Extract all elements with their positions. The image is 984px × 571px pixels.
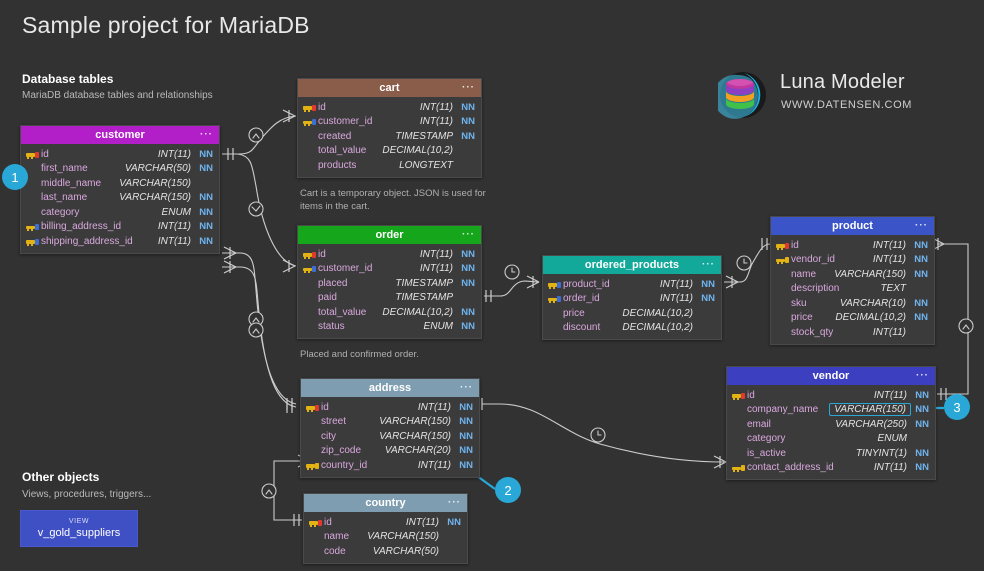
column-type: VARCHAR(150) [379,416,456,427]
column-list: idINT(11)NNnameVARCHAR(150)codeVARCHAR(5… [304,512,467,563]
column-row[interactable]: company_nameVARCHAR(150)NN [727,403,935,418]
column-name: zip_code [320,445,385,456]
table-header-customer[interactable]: customer··· [21,126,219,144]
column-name: id [317,249,420,260]
column-name: paid [317,292,395,303]
column-not-null-flag: NN [911,312,928,323]
foreign-key-icon [776,255,790,264]
column-row[interactable]: vendor_idINT(11)NN [771,253,934,268]
column-row[interactable]: first_nameVARCHAR(50)NN [21,162,219,177]
column-name: first_name [40,163,125,174]
column-type: VARCHAR(20) [385,445,456,456]
foreign-key-icon [303,264,317,273]
column-row[interactable]: idINT(11)NN [298,100,481,115]
column-row[interactable]: stock_qtyINT(11) [771,325,934,340]
entity-table-ordered_products[interactable]: ordered_products···product_idINT(11)NNor… [542,255,722,340]
table-name-order: order [375,229,403,241]
luna-modeler-logo-icon [718,70,768,120]
column-type: INT(11) [420,116,458,127]
column-row[interactable]: idINT(11)NN [771,238,934,253]
column-name: category [40,207,162,218]
column-name: shipping_address_id [40,236,158,247]
brand-name: Luna Modeler [780,71,905,94]
column-not-null-flag: NN [911,298,928,309]
table-name-vendor: vendor [813,370,850,382]
column-not-null-flag: NN [458,307,475,318]
column-row[interactable]: total_valueDECIMAL(10,2) [298,144,481,159]
column-name: email [746,419,835,430]
column-key-slot [306,432,320,441]
column-row[interactable]: country_idINT(11)NN [301,458,479,473]
column-row[interactable]: billing_address_idINT(11)NN [21,220,219,235]
column-row[interactable]: nameVARCHAR(150)NN [771,267,934,282]
column-row[interactable]: skuVARCHAR(10)NN [771,296,934,311]
column-name: created [317,131,395,142]
column-name: billing_address_id [40,221,158,232]
entity-table-vendor[interactable]: vendor···idINT(11)NNcompany_nameVARCHAR(… [726,366,936,480]
column-list: idINT(11)NNstreetVARCHAR(150)NNcityVARCH… [301,397,479,477]
column-name: street [320,416,379,427]
column-type-highlighted: VARCHAR(150) [829,403,911,416]
column-type: TIMESTAMP [395,292,458,303]
column-type: DECIMAL(10,2) [622,308,698,319]
column-type: TEXT [880,283,911,294]
column-name: sku [790,298,840,309]
table-header-vendor[interactable]: vendor··· [727,367,935,385]
column-not-null-flag: NN [456,460,473,471]
column-key-slot [776,328,790,337]
column-type: TIMESTAMP [395,278,458,289]
column-not-null-flag: NN [458,102,475,113]
foreign-key-icon [548,280,562,289]
column-list: idINT(11)NNcompany_nameVARCHAR(150)NNema… [727,385,935,479]
column-row[interactable]: categoryENUM [727,432,935,447]
column-name: id [40,149,158,160]
column-key-slot [732,449,746,458]
column-not-null-flag: NN [196,236,213,247]
column-not-null-flag: NN [912,404,929,415]
column-row[interactable]: emailVARCHAR(250)NN [727,417,935,432]
column-name: vendor_id [790,254,873,265]
column-type: INT(11) [874,390,912,401]
view-kind-label: VIEW [69,517,89,526]
primary-key-icon [26,150,40,159]
column-row[interactable]: idINT(11)NN [298,247,481,262]
column-type: VARCHAR(150) [119,178,196,189]
column-row[interactable]: is_activeTINYINT(1)NN [727,446,935,461]
column-type: INT(11) [418,460,456,471]
column-not-null-flag: NN [911,269,928,280]
diagram-canvas[interactable]: Sample project for MariaDB Database tabl… [0,0,984,571]
column-name: is_active [746,448,856,459]
column-type: VARCHAR(50) [125,163,196,174]
column-name: status [317,321,424,332]
column-name: stock_qty [790,327,873,338]
entity-table-product[interactable]: product···idINT(11)NNvendor_idINT(11)NNn… [770,216,935,345]
view-object-v-gold-suppliers[interactable]: VIEW v_gold_suppliers [20,510,138,547]
column-type: TIMESTAMP [395,131,458,142]
column-type: ENUM [878,433,912,444]
column-name: id [317,102,420,113]
column-not-null-flag: NN [912,448,929,459]
table-name-country: country [365,497,405,509]
column-row[interactable]: contact_address_idINT(11)NN [727,461,935,476]
page-title: Sample project for MariaDB [22,12,310,39]
table-header-address[interactable]: address··· [301,379,479,397]
column-not-null-flag: NN [458,116,475,127]
entity-table-address[interactable]: address···idINT(11)NNstreetVARCHAR(150)N… [300,378,480,478]
table-name-ordered_products: ordered_products [585,259,679,271]
column-name: description [790,283,880,294]
column-row[interactable]: product_idINT(11)NN [543,277,721,292]
column-not-null-flag: NN [911,240,928,251]
column-not-null-flag: NN [196,221,213,232]
column-row[interactable]: paidTIMESTAMP [298,291,481,306]
column-not-null-flag: NN [698,293,715,304]
primary-key-icon [776,241,790,250]
column-not-null-flag: NN [456,431,473,442]
section-subtitle-database-tables: MariaDB database tables and relationship… [22,90,213,101]
column-not-null-flag: NN [458,131,475,142]
brand-url: WWW.DATENSEN.COM [781,99,912,111]
column-key-slot [732,405,746,414]
section-title-other-objects: Other objects [22,470,99,484]
column-key-slot [303,132,317,141]
primary-key-icon [306,403,320,412]
column-not-null-flag: NN [456,416,473,427]
column-not-null-flag: NN [456,445,473,456]
column-list: idINT(11)NNfirst_nameVARCHAR(50)NNmiddle… [21,144,219,253]
table-note-cart: Cart is a temporary object. JSON is used… [300,187,495,213]
section-subtitle-other-objects: Views, procedures, triggers... [22,489,151,500]
column-row[interactable]: idINT(11)NN [727,388,935,403]
column-name: contact_address_id [746,462,874,473]
column-row[interactable]: customer_idINT(11)NN [298,115,481,130]
table-name-address: address [369,382,411,394]
foreign-key-icon [306,461,320,470]
column-type: INT(11) [874,462,912,473]
column-type: INT(11) [873,240,911,251]
column-name: code [323,546,373,557]
column-key-slot [26,208,40,217]
table-header-order[interactable]: order··· [298,226,481,244]
column-key-slot [303,279,317,288]
column-row[interactable]: cityVARCHAR(150)NN [301,429,479,444]
column-key-slot [776,313,790,322]
column-name: order_id [562,293,660,304]
column-type: INT(11) [420,249,458,260]
callout-badge-1[interactable]: 1 [2,164,28,190]
column-key-slot [732,420,746,429]
column-row[interactable]: order_idINT(11)NN [543,292,721,307]
column-type: VARCHAR(10) [840,298,911,309]
column-name: customer_id [317,263,420,274]
column-row[interactable]: zip_codeVARCHAR(20)NN [301,444,479,459]
column-not-null-flag: NN [456,402,473,413]
column-not-null-flag: NN [912,419,929,430]
column-type: DECIMAL(10,2) [622,322,698,333]
column-name: id [746,390,874,401]
column-not-null-flag: NN [458,249,475,260]
column-list: idINT(11)NNcustomer_idINT(11)NNcreatedTI… [298,97,481,177]
column-name: total_value [317,145,382,156]
foreign-key-icon [303,117,317,126]
column-key-slot [26,179,40,188]
column-key-slot [309,532,323,541]
column-key-slot [303,308,317,317]
brand-logo: Luna Modeler WWW.DATENSEN.COM [718,68,928,124]
column-row[interactable]: placedTIMESTAMPNN [298,276,481,291]
entity-table-order[interactable]: order···idINT(11)NNcustomer_idINT(11)NNp… [297,225,482,339]
column-name: products [317,160,399,171]
column-key-slot [732,434,746,443]
table-header-country[interactable]: country··· [304,494,467,512]
primary-key-icon [303,250,317,259]
column-not-null-flag: NN [196,192,213,203]
column-key-slot [306,417,320,426]
column-type: DECIMAL(10,2) [835,312,911,323]
column-type: INT(11) [873,327,911,338]
column-name: id [790,240,873,251]
column-type: INT(11) [158,236,196,247]
column-type: VARCHAR(150) [379,431,456,442]
column-not-null-flag: NN [912,462,929,473]
column-row[interactable]: middle_nameVARCHAR(150) [21,176,219,191]
column-type: ENUM [424,321,458,332]
table-header-ordered_products[interactable]: ordered_products··· [543,256,721,274]
column-type: INT(11) [406,517,444,528]
column-key-slot [303,293,317,302]
column-row[interactable]: nameVARCHAR(150) [304,530,467,545]
column-not-null-flag: NN [458,278,475,289]
column-name: middle_name [40,178,119,189]
column-name: customer_id [317,116,420,127]
column-name: price [790,312,835,323]
column-type: VARCHAR(150) [119,192,196,203]
column-row[interactable]: priceDECIMAL(10,2) [543,306,721,321]
foreign-key-icon [26,237,40,246]
column-type: INT(11) [420,263,458,274]
table-name-product: product [832,220,873,232]
column-type: LONGTEXT [399,160,458,171]
column-row[interactable]: createdTIMESTAMPNN [298,129,481,144]
column-row[interactable]: streetVARCHAR(150)NN [301,415,479,430]
column-name: id [323,517,406,528]
column-key-slot [26,164,40,173]
column-type: INT(11) [158,221,196,232]
column-name: country_id [320,460,418,471]
column-name: name [323,531,367,542]
column-not-null-flag: NN [196,149,213,160]
column-row[interactable]: last_nameVARCHAR(150)NN [21,191,219,206]
column-name: placed [317,278,395,289]
column-row[interactable]: idINT(11)NN [21,147,219,162]
column-type: INT(11) [660,279,698,290]
column-type: VARCHAR(50) [373,546,444,557]
column-not-null-flag: NN [458,263,475,274]
callout-badge-2[interactable]: 2 [495,477,521,503]
column-key-slot [303,146,317,155]
entity-table-customer[interactable]: customer···idINT(11)NNfirst_nameVARCHAR(… [20,125,220,254]
foreign-key-icon [732,463,746,472]
column-key-slot [306,446,320,455]
column-name: name [790,269,834,280]
table-name-cart: cart [379,82,399,94]
column-not-null-flag: NN [196,207,213,218]
column-key-slot [26,193,40,202]
primary-key-icon [732,391,746,400]
column-row[interactable]: productsLONGTEXT [298,158,481,173]
foreign-key-icon [548,294,562,303]
column-name: id [320,402,418,413]
column-list: idINT(11)NNcustomer_idINT(11)NNplacedTIM… [298,244,481,338]
column-type: VARCHAR(150) [367,531,444,542]
column-key-slot [303,161,317,170]
table-name-customer: customer [95,129,145,141]
table-header-cart[interactable]: cart··· [298,79,481,97]
column-type: INT(11) [418,402,456,413]
column-type: VARCHAR(150) [834,269,911,280]
column-type: INT(11) [660,293,698,304]
column-type: INT(11) [158,149,196,160]
column-not-null-flag: NN [458,321,475,332]
table-header-product[interactable]: product··· [771,217,934,235]
column-row[interactable]: idINT(11)NN [301,400,479,415]
column-name: city [320,431,379,442]
column-row[interactable]: discountDECIMAL(10,2) [543,321,721,336]
column-type: VARCHAR(250) [835,419,912,430]
column-not-null-flag: NN [911,254,928,265]
column-type: ENUM [162,207,196,218]
column-type: INT(11) [420,102,458,113]
entity-table-country[interactable]: country···idINT(11)NNnameVARCHAR(150)cod… [303,493,468,564]
column-key-slot [548,309,562,318]
column-row[interactable]: codeVARCHAR(50) [304,544,467,559]
column-key-slot [776,299,790,308]
column-row[interactable]: idINT(11)NN [304,515,467,530]
column-list: idINT(11)NNvendor_idINT(11)NNnameVARCHAR… [771,235,934,344]
column-key-slot [776,284,790,293]
column-key-slot [303,322,317,331]
entity-table-cart[interactable]: cart···idINT(11)NNcustomer_idINT(11)NNcr… [297,78,482,178]
primary-key-icon [309,518,323,527]
column-key-slot [309,547,323,556]
column-not-null-flag: NN [444,517,461,528]
column-key-slot [776,270,790,279]
column-name: category [746,433,878,444]
column-name: total_value [317,307,382,318]
column-row[interactable]: categoryENUMNN [21,205,219,220]
column-not-null-flag: NN [698,279,715,290]
column-name: discount [562,322,622,333]
column-type: TINYINT(1) [856,448,912,459]
column-name: company_name [746,404,829,415]
callout-badge-3[interactable]: 3 [944,394,970,420]
column-key-slot [548,323,562,332]
column-type: DECIMAL(10,2) [382,307,458,318]
primary-key-icon [303,103,317,112]
column-row[interactable]: priceDECIMAL(10,2)NN [771,311,934,326]
table-note-order: Placed and confirmed order. [300,348,495,361]
column-name: product_id [562,279,660,290]
view-object-name: v_gold_suppliers [38,526,121,540]
column-list: product_idINT(11)NNorder_idINT(11)NNpric… [543,274,721,339]
column-row[interactable]: statusENUMNN [298,320,481,335]
column-row[interactable]: total_valueDECIMAL(10,2)NN [298,305,481,320]
column-type: INT(11) [873,254,911,265]
column-row[interactable]: descriptionTEXT [771,282,934,297]
section-title-database-tables: Database tables [22,72,113,86]
column-row[interactable]: shipping_address_idINT(11)NN [21,234,219,249]
foreign-key-icon [26,222,40,231]
column-not-null-flag: NN [196,163,213,174]
column-name: last_name [40,192,119,203]
column-type: DECIMAL(10,2) [382,145,458,156]
column-row[interactable]: customer_idINT(11)NN [298,262,481,277]
column-name: price [562,308,622,319]
column-not-null-flag: NN [912,390,929,401]
